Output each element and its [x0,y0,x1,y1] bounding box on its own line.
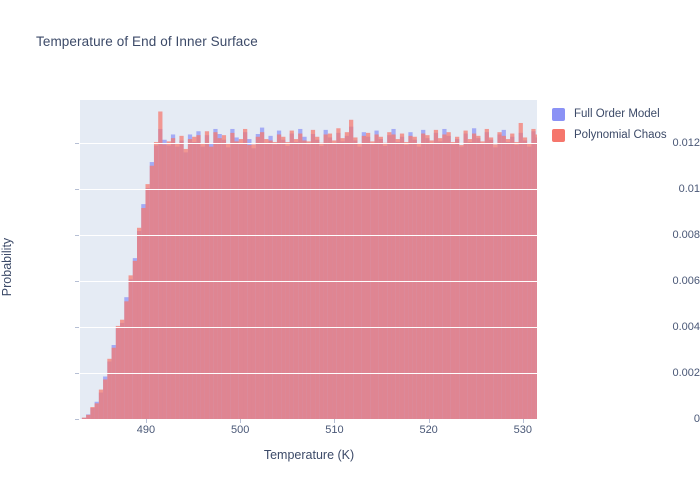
y-gridline [80,235,537,236]
histogram-bar [290,131,294,419]
histogram-bar [536,134,537,419]
histogram-bar [362,136,366,419]
histogram-bar [209,147,213,419]
y-axis-title: Probability [0,238,14,296]
histogram-bar [472,134,476,419]
histogram-bar [332,140,336,419]
y-axis-tick-label: 0.002 [629,367,700,379]
histogram-bar [205,131,209,419]
histogram-bar [379,137,383,419]
histogram-bar [425,135,429,419]
histogram-bars [80,100,537,419]
histogram-bar [95,403,99,419]
y-axis-tick-mark [75,281,79,282]
histogram-bar [468,139,472,419]
chart-figure: Temperature of End of Inner Surface Prob… [0,0,700,500]
histogram-bar [459,145,463,419]
histogram-bar [129,275,133,419]
histogram-bar [302,140,306,419]
histogram-bar [387,132,391,419]
histogram-bar [86,415,90,419]
x-axis-tick-label: 520 [419,424,437,436]
histogram-bar [141,208,145,419]
histogram-bar [510,134,514,419]
histogram-bar [145,184,149,419]
histogram-bar [192,137,196,419]
histogram-bar [391,134,395,419]
histogram-bar [179,136,183,419]
histogram-bar [277,134,281,419]
histogram-bar [442,134,446,419]
histogram-bar [324,134,328,419]
histogram-bar [506,139,510,419]
histogram-bar [90,407,94,419]
histogram-bar [430,140,434,419]
y-axis-tick-label: 0.006 [629,275,700,287]
histogram-bar [315,137,319,419]
y-gridline [80,143,537,144]
histogram-bar [366,133,370,419]
histogram-bar [413,137,417,419]
histogram-bar [196,135,200,419]
histogram-bar [213,132,217,419]
histogram-bar [455,137,459,419]
histogram-bar [133,261,137,419]
histogram-bar [374,134,378,419]
histogram-bar [247,145,251,419]
histogram-bar [485,129,489,419]
histogram-bar [222,135,226,419]
histogram-bar [476,136,480,419]
y-gridline [80,373,537,374]
y-gridline [80,189,537,190]
histogram-bar [328,134,332,419]
histogram-bar [137,228,141,419]
y-axis-tick-mark [75,419,79,420]
x-axis-tick-mark [240,419,241,423]
histogram-bar [264,139,268,419]
histogram-bar [124,301,128,419]
histogram-bar [268,140,272,419]
histogram-bar [396,139,400,419]
y-gridline [80,281,537,282]
y-axis-tick-mark [75,235,79,236]
histogram-bar [112,348,116,419]
x-axis-title: Temperature (K) [0,448,618,462]
x-axis-tick-label: 490 [137,424,155,436]
histogram-bar [408,136,412,419]
histogram-bar [341,138,345,419]
histogram-bar [311,130,315,419]
histogram-bar [82,418,86,419]
histogram-bar [256,137,260,419]
histogram-bar [489,137,493,419]
histogram-bar [120,320,124,419]
y-axis-tick-label: 0.008 [629,229,700,241]
histogram-bar [281,137,285,419]
histogram-bar [230,133,234,419]
histogram-bar [349,120,353,419]
histogram-bar [218,138,222,419]
legend-item-label: Full Order Model [574,108,660,120]
histogram-bar [523,137,527,419]
histogram-bar [434,130,438,419]
y-gridline [80,327,537,328]
histogram-bar [298,134,302,419]
histogram-bar [400,134,404,419]
histogram-bar [239,139,243,419]
histogram-bar [353,137,357,419]
plot-area [80,100,537,419]
x-axis-tick-mark [334,419,335,423]
histogram-bar [188,139,192,419]
x-axis-tick-mark [146,419,147,423]
histogram-bar [497,132,501,419]
y-axis-tick-label: 0.012 [629,137,700,149]
histogram-bar [421,134,425,419]
histogram-bar [99,390,103,419]
histogram-bar [531,129,535,419]
histogram-bar [336,128,340,419]
legend-swatch-icon [552,129,565,142]
y-axis-tick-label: 0.01 [629,183,700,195]
histogram-bar [345,132,349,419]
y-axis-tick-mark [75,373,79,374]
histogram-bar [502,136,506,419]
x-axis-tick-mark [523,419,524,423]
y-axis-tick-mark [75,327,79,328]
histogram-bar [260,132,264,419]
histogram-bar [107,359,111,419]
histogram-bar [243,129,247,419]
y-axis-tick-label: 0.004 [629,321,700,333]
x-axis-tick-label: 510 [325,424,343,436]
y-axis-tick-mark [75,143,79,144]
y-axis-tick-label: 0 [629,413,700,425]
histogram-bar [103,379,107,419]
histogram-bar [447,132,451,419]
histogram-bar [464,131,468,419]
x-axis-tick-mark [429,419,430,423]
histogram-bar [150,166,154,419]
x-axis-tick-label: 530 [514,424,532,436]
legend-item-0[interactable]: Full Order Model [552,105,692,123]
histogram-bar [438,138,442,419]
x-axis-tick-label: 500 [231,424,249,436]
y-axis-tick-mark [75,189,79,190]
histogram-bar [171,138,175,419]
histogram-bar [294,139,298,419]
legend-swatch-icon [552,108,565,121]
histogram-bar [519,123,523,419]
